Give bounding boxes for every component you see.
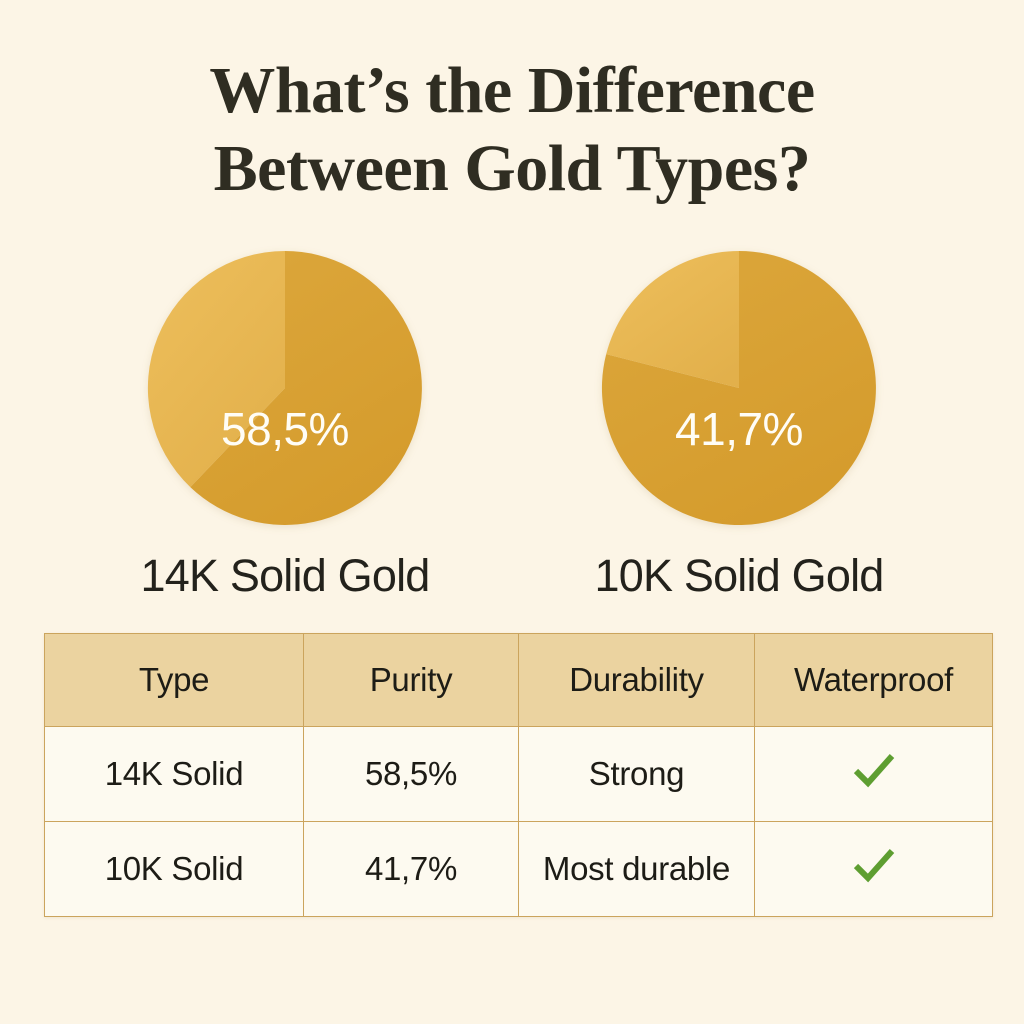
cell-durability: Most durable — [519, 822, 755, 917]
cell-type: 10K Solid — [45, 822, 304, 917]
cell-type: 14K Solid — [45, 727, 304, 822]
page-title: What’s the Difference Between Gold Types… — [0, 52, 1024, 208]
pie-svg-10k — [601, 250, 877, 526]
checkmark-icon — [851, 750, 897, 798]
column-header-waterproof: Waterproof — [755, 634, 993, 727]
table-body: 14K Solid 58,5% Strong 10K Solid 41,7% M… — [45, 727, 993, 917]
column-header-purity: Purity — [304, 634, 519, 727]
cell-purity: 41,7% — [304, 822, 519, 917]
pie-caption-10k: 10K Solid Gold — [595, 550, 884, 602]
pie-chart-14k: 58,5% — [147, 250, 423, 526]
column-header-type: Type — [45, 634, 304, 727]
pie-chart-10k: 41,7% — [601, 250, 877, 526]
comparison-table: Type Purity Durability Waterproof 14K So… — [44, 633, 993, 917]
cell-purity: 58,5% — [304, 727, 519, 822]
pie-charts-row: 58,5% 14K Solid Gold — [0, 250, 1024, 602]
pie-svg-14k — [147, 250, 423, 526]
table-row: 14K Solid 58,5% Strong — [45, 727, 993, 822]
checkmark-icon — [851, 845, 897, 893]
cell-waterproof — [755, 727, 993, 822]
table-row: 10K Solid 41,7% Most durable — [45, 822, 993, 917]
title-line-1: What’s the Difference — [0, 52, 1024, 130]
chart-cell-10k: 41,7% 10K Solid Gold — [524, 250, 954, 602]
table-header: Type Purity Durability Waterproof — [45, 634, 993, 727]
title-line-2: Between Gold Types? — [0, 130, 1024, 208]
cell-waterproof — [755, 822, 993, 917]
cell-durability: Strong — [519, 727, 755, 822]
table-header-row: Type Purity Durability Waterproof — [45, 634, 993, 727]
column-header-durability: Durability — [519, 634, 755, 727]
pie-caption-14k: 14K Solid Gold — [141, 550, 430, 602]
chart-cell-14k: 58,5% 14K Solid Gold — [70, 250, 500, 602]
